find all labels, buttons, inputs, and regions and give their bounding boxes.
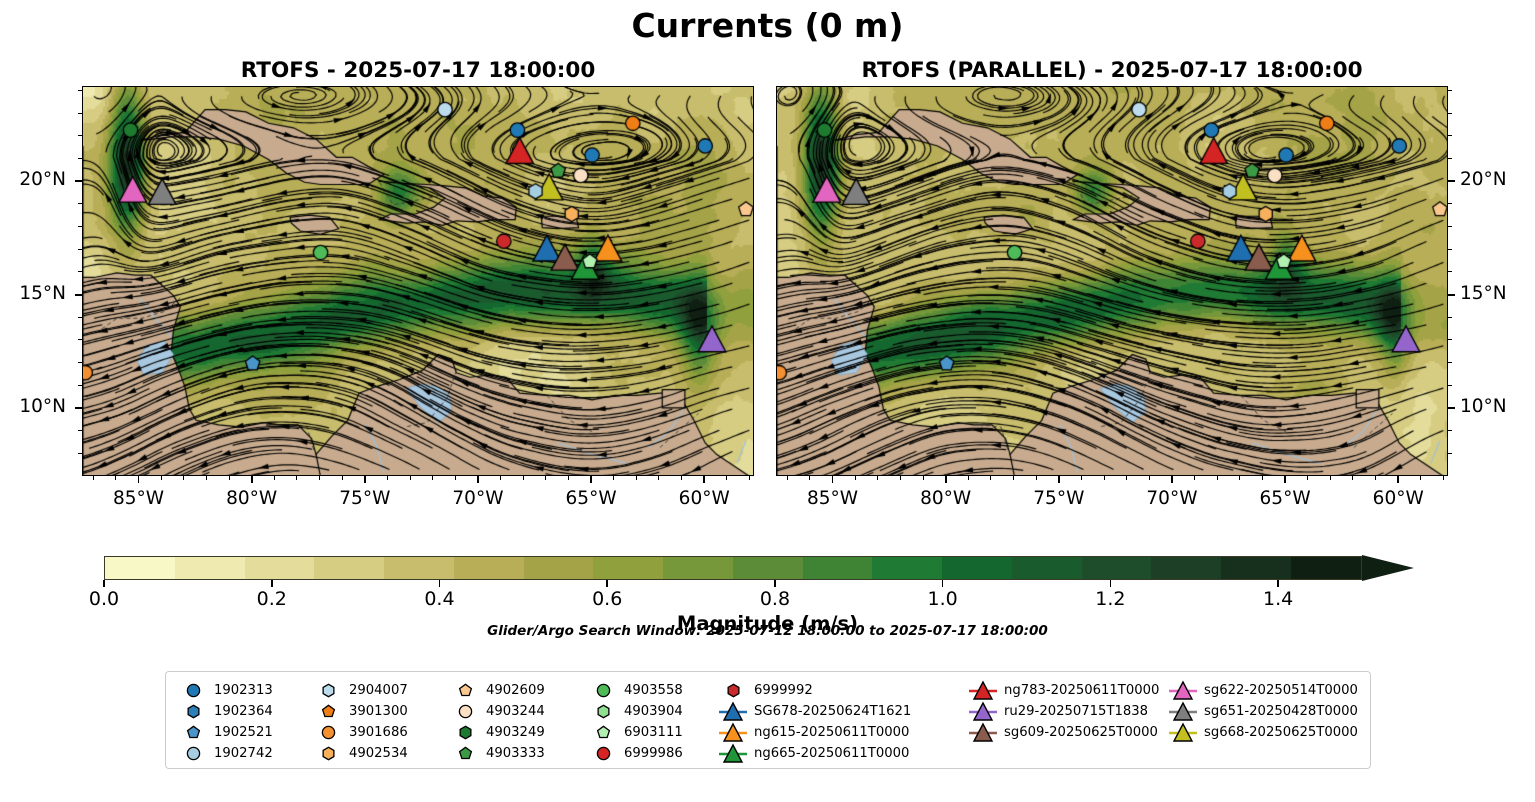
lon-minor-tick bbox=[342, 476, 343, 480]
lat-minor-tick bbox=[78, 339, 82, 340]
lon-minor-tick bbox=[1443, 476, 1444, 480]
lon-minor-tick bbox=[387, 476, 388, 480]
legend-item-label: sg622-20250514T0000 bbox=[1200, 683, 1358, 698]
lat-minor-tick bbox=[78, 407, 82, 408]
lon-minor-tick bbox=[681, 476, 682, 480]
colorbar-extend-arrow bbox=[1362, 555, 1414, 581]
colorbar-tick bbox=[103, 580, 105, 587]
legend-column-0: 1902313190236419025211902742 bbox=[176, 680, 273, 764]
lon-tick-label: 85°W bbox=[783, 488, 883, 509]
colorbar-tick-label: 0.0 bbox=[64, 588, 144, 610]
legend-item-label: 3901686 bbox=[345, 725, 408, 740]
legend-item-label: ng665-20250611T0000 bbox=[750, 746, 909, 761]
colorbar-band-0 bbox=[105, 557, 175, 579]
legend-column-5: ng783-20250611T0000 ru29-20250715T1838 s… bbox=[966, 680, 1159, 743]
hexagon-marker-icon bbox=[448, 725, 482, 740]
legend-item-label: 6999992 bbox=[750, 683, 813, 698]
legend-item-label: ng615-20250611T0000 bbox=[750, 725, 909, 740]
colorbar-tick-label: 0.8 bbox=[735, 588, 815, 610]
legend-column-2: 4902609490324449032494903333 bbox=[448, 680, 545, 764]
lat-minor-tick bbox=[78, 362, 82, 363]
lon-minor-tick bbox=[923, 476, 924, 480]
lat-minor-tick bbox=[78, 385, 82, 386]
map-panel-left[interactable] bbox=[82, 86, 754, 476]
colorbar-tick bbox=[1277, 580, 1279, 587]
legend-item-label: 1902742 bbox=[210, 746, 273, 761]
hexagon-marker-icon bbox=[716, 683, 750, 698]
colorbar-tick bbox=[1110, 580, 1112, 587]
legend-item-label: 6999986 bbox=[620, 746, 683, 761]
colorbar-band-16 bbox=[1221, 557, 1291, 579]
colorbar-band-15 bbox=[1151, 557, 1221, 579]
lat-minor-tick bbox=[1448, 135, 1452, 136]
legend-item[interactable]: ng665-20250611T0000 bbox=[716, 743, 911, 764]
lon-minor-tick bbox=[832, 476, 833, 480]
legend-column-6: sg622-20250514T0000 sg651-20250428T0000 … bbox=[1166, 680, 1358, 743]
lat-minor-tick bbox=[1448, 362, 1452, 363]
circle-marker-icon bbox=[311, 725, 345, 740]
legend-item[interactable]: 2904007 bbox=[311, 680, 408, 701]
pentagon-marker-icon bbox=[448, 683, 482, 698]
lat-minor-tick bbox=[78, 203, 82, 204]
lat-minor-tick bbox=[1448, 317, 1452, 318]
lon-tick-label: 75°W bbox=[1009, 488, 1109, 509]
lon-minor-tick bbox=[968, 476, 969, 480]
legend-item-label: 4902609 bbox=[482, 683, 545, 698]
lon-minor-tick bbox=[274, 476, 275, 480]
lon-minor-tick bbox=[319, 476, 320, 480]
legend-item[interactable]: 1902313 bbox=[176, 680, 273, 701]
lat-minor-tick bbox=[78, 181, 82, 182]
lon-minor-tick bbox=[500, 476, 501, 480]
legend-item[interactable]: 4903558 bbox=[586, 680, 683, 701]
legend-item[interactable]: sg622-20250514T0000 bbox=[1166, 680, 1358, 701]
legend-item-label: 4902534 bbox=[345, 746, 408, 761]
map-canvas-left bbox=[83, 87, 754, 476]
lon-tick-label: 65°W bbox=[1235, 488, 1335, 509]
legend-item[interactable]: 1902364 bbox=[176, 701, 273, 722]
lat-minor-tick bbox=[1448, 158, 1452, 159]
legend-box: 1902313190236419025211902742290400739013… bbox=[165, 671, 1371, 769]
lat-minor-tick bbox=[1448, 203, 1452, 204]
lat-minor-tick bbox=[78, 158, 82, 159]
lon-minor-tick bbox=[455, 476, 456, 480]
lat-minor-tick bbox=[1448, 113, 1452, 114]
lon-minor-tick bbox=[1262, 476, 1263, 480]
triangle-marker-icon bbox=[1166, 722, 1200, 744]
legend-item[interactable]: 1902742 bbox=[176, 743, 273, 764]
lon-minor-tick bbox=[636, 476, 637, 480]
legend-item[interactable]: sg668-20250625T0000 bbox=[1166, 722, 1358, 743]
colorbar-band-14 bbox=[1082, 557, 1152, 579]
lat-tick-label: 10°N bbox=[0, 396, 66, 417]
legend-item[interactable]: 4903249 bbox=[448, 722, 545, 743]
legend-item[interactable]: 4903244 bbox=[448, 701, 545, 722]
lon-minor-tick bbox=[1307, 476, 1308, 480]
legend-item-label: 1902313 bbox=[210, 683, 273, 698]
lon-tick-label: 85°W bbox=[89, 488, 189, 509]
figure-suptitle: Currents (0 m) bbox=[0, 6, 1535, 45]
pentagon-marker-icon bbox=[586, 725, 620, 740]
lat-tick-label: 15°N bbox=[1460, 283, 1530, 304]
legend-item-label: SG678-20250624T1621 bbox=[750, 704, 911, 719]
lon-minor-tick bbox=[704, 476, 705, 480]
pentagon-marker-icon bbox=[176, 725, 210, 740]
legend-item-label: sg609-20250625T0000 bbox=[1000, 725, 1158, 740]
colorbar-tick-label: 0.6 bbox=[567, 588, 647, 610]
lat-minor-tick bbox=[78, 453, 82, 454]
legend-item[interactable]: 4902534 bbox=[311, 743, 408, 764]
lon-minor-tick bbox=[251, 476, 252, 480]
colorbar-gradient bbox=[104, 556, 1362, 580]
lon-minor-tick bbox=[1375, 476, 1376, 480]
lon-minor-tick bbox=[432, 476, 433, 480]
legend-item[interactable]: 6999992 bbox=[716, 680, 911, 701]
map-canvas-right bbox=[777, 87, 1448, 476]
legend-item[interactable]: 1902521 bbox=[176, 722, 273, 743]
lon-minor-tick bbox=[477, 476, 478, 480]
legend-item[interactable]: 4902609 bbox=[448, 680, 545, 701]
lon-minor-tick bbox=[1126, 476, 1127, 480]
triangle-marker-icon bbox=[966, 701, 1000, 723]
colorbar-band-17 bbox=[1291, 557, 1361, 579]
colorbar-band-4 bbox=[384, 557, 454, 579]
lon-minor-tick bbox=[658, 476, 659, 480]
legend-item[interactable]: ru29-20250715T1838 bbox=[966, 701, 1159, 722]
triangle-marker-icon bbox=[966, 680, 1000, 702]
colorbar-band-8 bbox=[663, 557, 733, 579]
lat-minor-tick bbox=[1448, 249, 1452, 250]
lon-minor-tick bbox=[296, 476, 297, 480]
legend-column-1: 2904007390130039016864902534 bbox=[311, 680, 408, 764]
lon-tick-label: 60°W bbox=[1348, 488, 1448, 509]
lat-minor-tick bbox=[78, 135, 82, 136]
lon-minor-tick bbox=[726, 476, 727, 480]
colorbar-band-11 bbox=[872, 557, 942, 579]
legend-item[interactable]: 4903333 bbox=[448, 743, 545, 764]
colorbar-tick-label: 1.4 bbox=[1238, 588, 1318, 610]
legend-item-label: 4903249 bbox=[482, 725, 545, 740]
lon-tick-label: 60°W bbox=[654, 488, 754, 509]
colorbar-tick-label: 1.2 bbox=[1070, 588, 1150, 610]
colorbar-tick bbox=[271, 580, 273, 587]
lon-minor-tick bbox=[1149, 476, 1150, 480]
panel-title-right: RTOFS (PARALLEL) - 2025-07-17 18:00:00 bbox=[776, 58, 1448, 83]
triangle-marker-icon bbox=[1166, 701, 1200, 723]
legend-item-label: 1902521 bbox=[210, 725, 273, 740]
triangle-marker-icon bbox=[716, 701, 750, 723]
lon-minor-tick bbox=[945, 476, 946, 480]
lat-minor-tick bbox=[1448, 226, 1452, 227]
lon-minor-tick bbox=[568, 476, 569, 480]
lat-minor-tick bbox=[78, 294, 82, 295]
hexagon-marker-icon bbox=[176, 704, 210, 719]
lon-minor-tick bbox=[1081, 476, 1082, 480]
lon-minor-tick bbox=[613, 476, 614, 480]
lon-minor-tick bbox=[1104, 476, 1105, 480]
legend-item-label: 4903333 bbox=[482, 746, 545, 761]
triangle-marker-icon bbox=[716, 743, 750, 765]
lon-minor-tick bbox=[990, 476, 991, 480]
lon-minor-tick bbox=[161, 476, 162, 480]
colorbar-band-5 bbox=[454, 557, 524, 579]
lat-minor-tick bbox=[78, 430, 82, 431]
colorbar-band-10 bbox=[803, 557, 873, 579]
lon-minor-tick bbox=[115, 476, 116, 480]
legend-item-label: 4903244 bbox=[482, 704, 545, 719]
legend-item-label: 4903558 bbox=[620, 683, 683, 698]
colorbar-tick bbox=[606, 580, 608, 587]
legend-item-label: ru29-20250715T1838 bbox=[1000, 704, 1148, 719]
legend-item-label: 6903111 bbox=[620, 725, 683, 740]
lat-minor-tick bbox=[1448, 339, 1452, 340]
lat-minor-tick bbox=[78, 271, 82, 272]
lat-minor-tick bbox=[78, 249, 82, 250]
legend-item[interactable]: sg609-20250625T0000 bbox=[966, 722, 1159, 743]
legend-item-label: ng783-20250611T0000 bbox=[1000, 683, 1159, 698]
lat-minor-tick bbox=[1448, 90, 1452, 91]
colorbar-band-3 bbox=[314, 557, 384, 579]
lat-minor-tick bbox=[78, 113, 82, 114]
lon-minor-tick bbox=[523, 476, 524, 480]
legend-item[interactable]: ng783-20250611T0000 bbox=[966, 680, 1159, 701]
colorbar bbox=[104, 556, 1414, 580]
hexagon-marker-icon bbox=[311, 683, 345, 698]
legend-item[interactable]: 3901300 bbox=[311, 701, 408, 722]
legend-item-label: 1902364 bbox=[210, 704, 273, 719]
lon-minor-tick bbox=[1036, 476, 1037, 480]
lon-minor-tick bbox=[877, 476, 878, 480]
legend-column-4: 6999992 SG678-20250624T1621 ng615-202506… bbox=[716, 680, 911, 764]
hexagon-marker-icon bbox=[311, 746, 345, 761]
triangle-marker-icon bbox=[1166, 680, 1200, 702]
lon-minor-tick bbox=[1420, 476, 1421, 480]
lon-tick-label: 70°W bbox=[1122, 488, 1222, 509]
colorbar-tick-label: 0.2 bbox=[232, 588, 312, 610]
circle-marker-icon bbox=[586, 746, 620, 761]
colorbar-tick bbox=[439, 580, 441, 587]
legend-item[interactable]: sg651-20250428T0000 bbox=[1166, 701, 1358, 722]
legend-item-label: 4903904 bbox=[620, 704, 683, 719]
lon-minor-tick bbox=[809, 476, 810, 480]
legend-item-label: sg668-20250625T0000 bbox=[1200, 725, 1358, 740]
hexagon-marker-icon bbox=[586, 704, 620, 719]
colorbar-band-12 bbox=[942, 557, 1012, 579]
lon-minor-tick bbox=[1239, 476, 1240, 480]
colorbar-band-7 bbox=[593, 557, 663, 579]
legend-item[interactable]: SG678-20250624T1621 bbox=[716, 701, 911, 722]
lon-minor-tick bbox=[749, 476, 750, 480]
lon-minor-tick bbox=[93, 476, 94, 480]
lon-minor-tick bbox=[855, 476, 856, 480]
circle-marker-icon bbox=[448, 704, 482, 719]
map-panel-right[interactable] bbox=[776, 86, 1448, 476]
legend-item[interactable]: 4903904 bbox=[586, 701, 683, 722]
lat-minor-tick bbox=[1448, 294, 1452, 295]
colorbar-band-13 bbox=[1012, 557, 1082, 579]
lon-minor-tick bbox=[410, 476, 411, 480]
colorbar-band-6 bbox=[524, 557, 594, 579]
lon-minor-tick bbox=[591, 476, 592, 480]
lon-minor-tick bbox=[206, 476, 207, 480]
legend-item[interactable]: ng615-20250611T0000 bbox=[716, 722, 911, 743]
lon-minor-tick bbox=[1194, 476, 1195, 480]
lon-tick-label: 80°W bbox=[202, 488, 302, 509]
lon-tick-label: 65°W bbox=[541, 488, 641, 509]
lat-tick-label: 15°N bbox=[0, 283, 66, 304]
circle-marker-icon bbox=[176, 683, 210, 698]
lon-minor-tick bbox=[545, 476, 546, 480]
circle-marker-icon bbox=[176, 746, 210, 761]
colorbar-band-1 bbox=[175, 557, 245, 579]
legend-item-label: sg651-20250428T0000 bbox=[1200, 704, 1358, 719]
legend-item[interactable]: 6999986 bbox=[586, 743, 683, 764]
circle-marker-icon bbox=[586, 683, 620, 698]
lon-minor-tick bbox=[900, 476, 901, 480]
lon-minor-tick bbox=[787, 476, 788, 480]
lon-minor-tick bbox=[364, 476, 365, 480]
legend-item[interactable]: 6903111 bbox=[586, 722, 683, 743]
lat-minor-tick bbox=[78, 317, 82, 318]
pentagon-marker-icon bbox=[448, 746, 482, 761]
colorbar-tick bbox=[774, 580, 776, 587]
lat-tick-label: 20°N bbox=[1460, 169, 1530, 190]
lon-minor-tick bbox=[1217, 476, 1218, 480]
pentagon-marker-icon bbox=[311, 704, 345, 719]
colorbar-band-9 bbox=[733, 557, 803, 579]
lat-minor-tick bbox=[1448, 407, 1452, 408]
legend-column-3: 4903558490390469031116999986 bbox=[586, 680, 683, 764]
lat-minor-tick bbox=[1448, 453, 1452, 454]
legend-item[interactable]: 3901686 bbox=[311, 722, 408, 743]
lon-minor-tick bbox=[1330, 476, 1331, 480]
triangle-marker-icon bbox=[966, 722, 1000, 744]
lat-tick-label: 10°N bbox=[1460, 396, 1530, 417]
lon-minor-tick bbox=[1171, 476, 1172, 480]
colorbar-tick bbox=[942, 580, 944, 587]
lon-minor-tick bbox=[1285, 476, 1286, 480]
lat-minor-tick bbox=[1448, 385, 1452, 386]
lon-minor-tick bbox=[1398, 476, 1399, 480]
legend-item-label: 3901300 bbox=[345, 704, 408, 719]
panel-title-left: RTOFS - 2025-07-17 18:00:00 bbox=[82, 58, 754, 83]
search-window-text: Glider/Argo Search Window: 2025-07-12 18… bbox=[0, 623, 1535, 639]
colorbar-band-2 bbox=[245, 557, 315, 579]
colorbar-tick-label: 0.4 bbox=[399, 588, 479, 610]
lon-minor-tick bbox=[229, 476, 230, 480]
lat-minor-tick bbox=[78, 90, 82, 91]
lon-minor-tick bbox=[1013, 476, 1014, 480]
lon-minor-tick bbox=[1058, 476, 1059, 480]
lon-minor-tick bbox=[183, 476, 184, 480]
legend-item-label: 2904007 bbox=[345, 683, 408, 698]
lat-minor-tick bbox=[1448, 271, 1452, 272]
colorbar-tick-label: 1.0 bbox=[903, 588, 983, 610]
triangle-marker-icon bbox=[716, 722, 750, 744]
lat-minor-tick bbox=[1448, 430, 1452, 431]
lon-tick-label: 75°W bbox=[315, 488, 415, 509]
lat-minor-tick bbox=[78, 226, 82, 227]
lon-minor-tick bbox=[1352, 476, 1353, 480]
lon-tick-label: 80°W bbox=[896, 488, 996, 509]
lon-minor-tick bbox=[138, 476, 139, 480]
lon-tick-label: 70°W bbox=[428, 488, 528, 509]
lat-minor-tick bbox=[1448, 181, 1452, 182]
lat-tick-label: 20°N bbox=[0, 169, 66, 190]
